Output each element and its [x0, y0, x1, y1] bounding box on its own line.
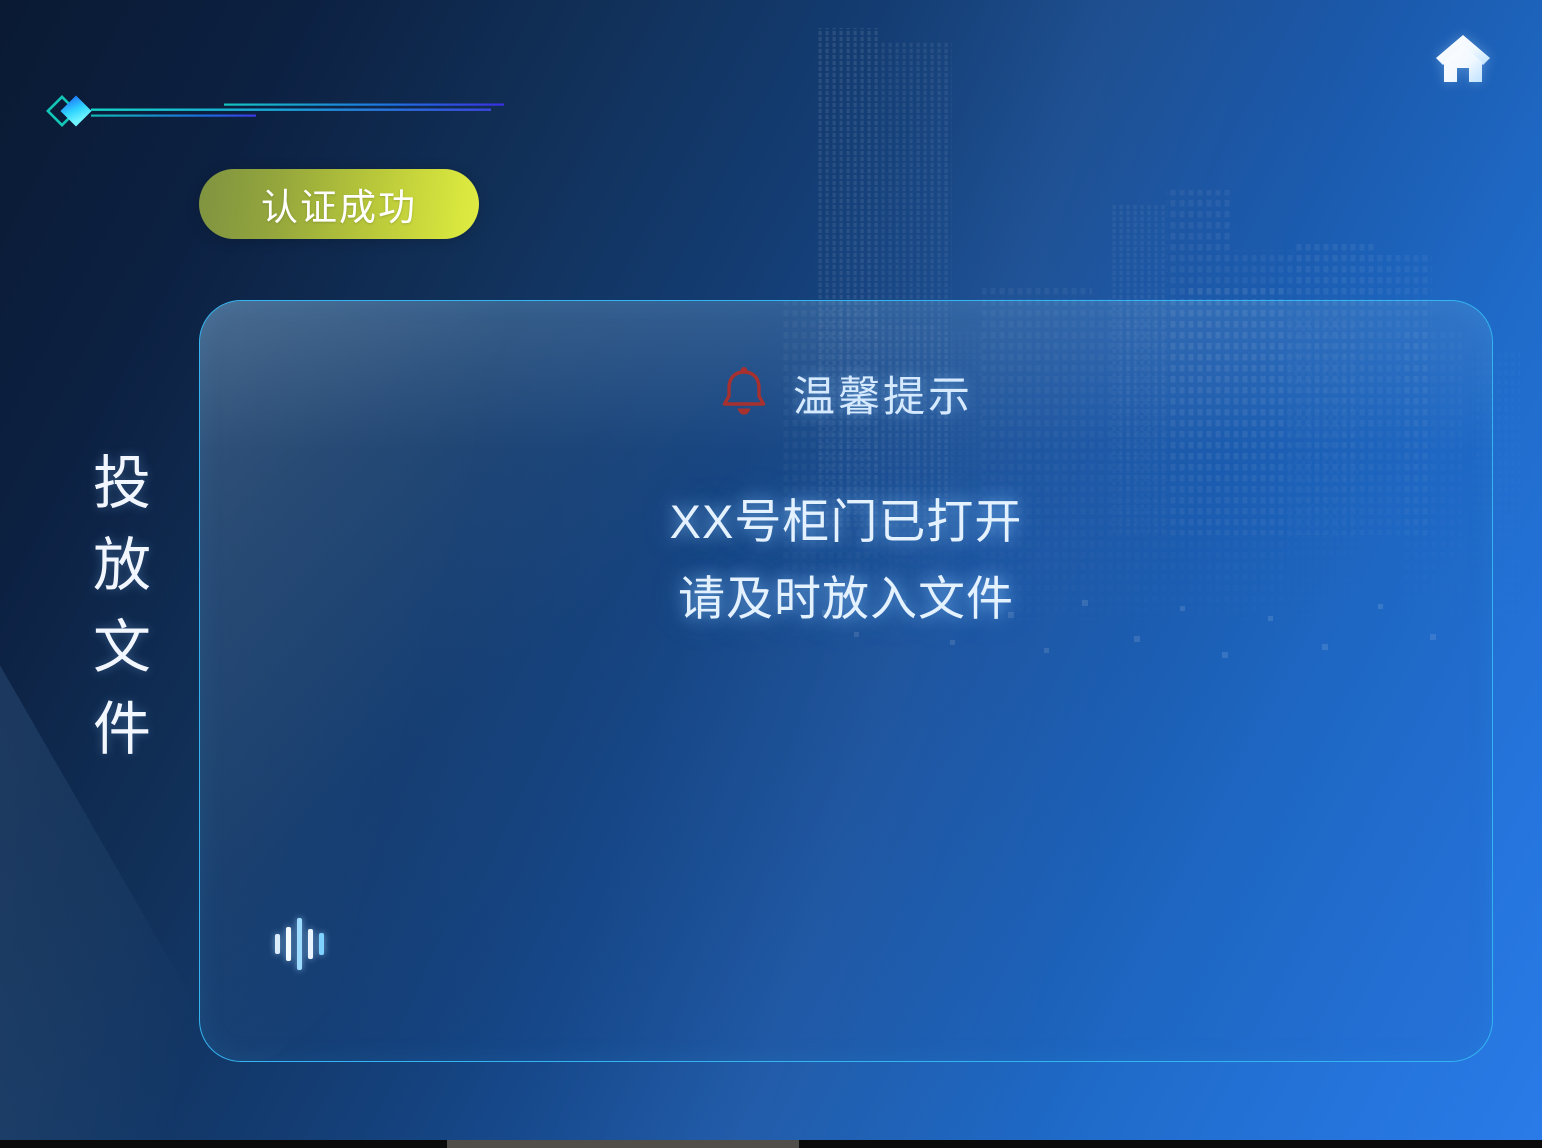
notice-block: 温馨提示 XX号柜门已打开 请及时放入文件	[200, 363, 1492, 637]
notification-panel: 温馨提示 XX号柜门已打开 请及时放入文件	[199, 300, 1493, 1062]
home-icon	[1434, 32, 1492, 84]
notice-message: XX号柜门已打开 请及时放入文件	[200, 484, 1492, 637]
waveform-bar-1	[275, 934, 280, 954]
status-badge: 认证成功	[199, 169, 479, 239]
bell-icon	[719, 365, 769, 422]
screen-bottom-notch	[447, 1140, 799, 1148]
diamond-line-decoration	[44, 92, 504, 134]
notice-header: 温馨提示	[200, 363, 1492, 424]
waveform-bar-3	[297, 918, 302, 970]
waveform-bar-4	[308, 929, 313, 959]
notice-message-line-1: XX号柜门已打开	[200, 484, 1492, 561]
audio-waveform-icon[interactable]	[268, 915, 330, 973]
page-title-char-2: 放	[93, 537, 151, 595]
waveform-bar-5	[319, 933, 324, 955]
notice-message-line-2: 请及时放入文件	[200, 561, 1492, 638]
screen-bottom-edge	[0, 1140, 1542, 1148]
waveform-bar-2	[286, 927, 291, 961]
home-button[interactable]	[1432, 27, 1494, 89]
page-title-char-1: 投	[93, 455, 151, 513]
notice-title: 温馨提示	[793, 363, 973, 424]
page-title-vertical: 投 放 文 件	[72, 455, 172, 759]
page-title-char-4: 件	[93, 701, 151, 759]
status-badge-label: 认证成功	[261, 177, 417, 231]
page-title-char-3: 文	[93, 619, 151, 677]
app-screen: 认证成功 投 放 文 件	[0, 0, 1542, 1148]
